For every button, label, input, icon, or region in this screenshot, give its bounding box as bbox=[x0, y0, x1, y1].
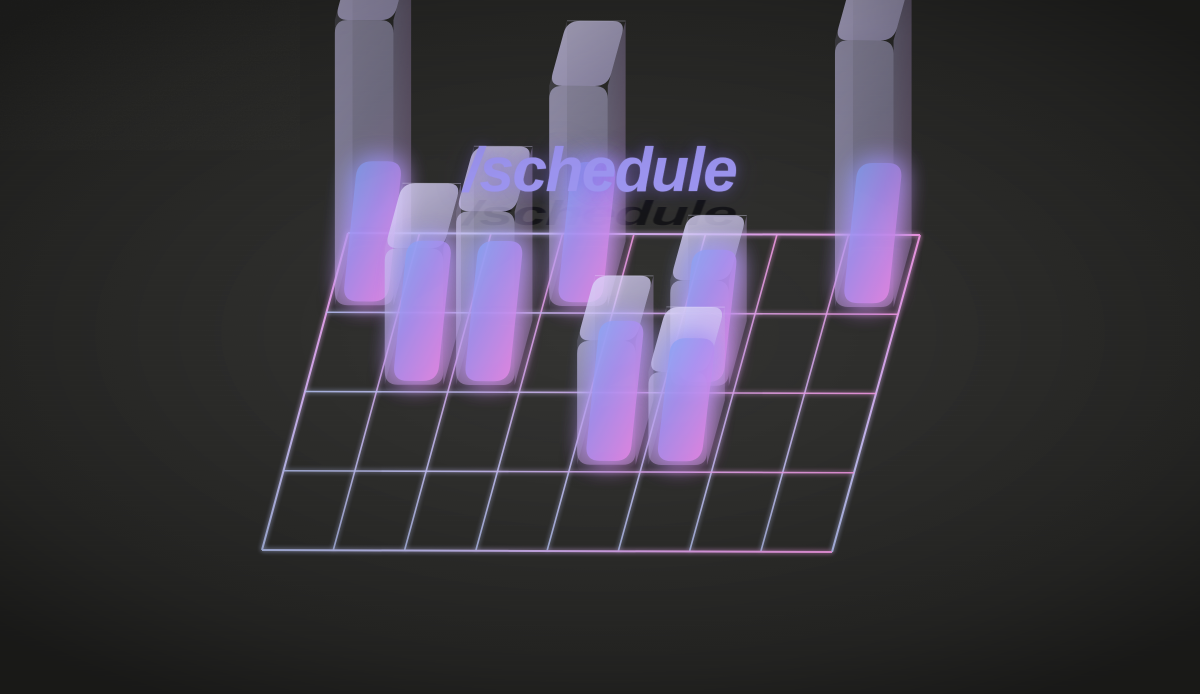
bar-front-face bbox=[456, 211, 515, 385]
bar-front-face bbox=[549, 86, 608, 306]
bar-top-face bbox=[580, 276, 651, 341]
grid-line bbox=[690, 235, 778, 552]
grid-line bbox=[333, 233, 419, 550]
bar-front-face bbox=[835, 40, 894, 307]
bar-side-face bbox=[636, 276, 654, 465]
bar-collection bbox=[335, 0, 912, 465]
grid-line bbox=[284, 471, 855, 473]
bar-front-face bbox=[335, 20, 394, 305]
floor-shadow-layer bbox=[0, 0, 1200, 694]
bar-base-glow bbox=[658, 338, 715, 461]
bar-bar-c1-r1 bbox=[335, 0, 411, 305]
bar-side-face bbox=[729, 215, 747, 385]
bar-side-face bbox=[894, 0, 912, 307]
bar-top-face bbox=[838, 0, 909, 40]
bar-shadow bbox=[834, 247, 905, 314]
bar-shadow bbox=[647, 405, 718, 472]
bar-left-face bbox=[549, 21, 567, 306]
bar-base-glow bbox=[586, 321, 643, 461]
bar-shadow bbox=[333, 245, 404, 312]
bar-top-face bbox=[651, 307, 722, 372]
bar-side-face bbox=[393, 0, 411, 305]
bar-shadow bbox=[548, 246, 619, 313]
bar-top-face bbox=[552, 21, 623, 86]
bar-shadow bbox=[455, 325, 526, 392]
grid-line bbox=[547, 234, 634, 551]
bar-bar-c8-r1 bbox=[835, 0, 912, 307]
wordmark: /schedule bbox=[464, 140, 737, 202]
bar-side-face bbox=[515, 147, 533, 386]
grid-line bbox=[761, 235, 849, 552]
bar-bar-c6-r3 bbox=[648, 307, 724, 465]
grid-line bbox=[832, 235, 920, 552]
bar-bar-c6-r2 bbox=[670, 215, 746, 386]
grid-line bbox=[348, 233, 920, 235]
grid-line bbox=[262, 550, 832, 552]
wordmark-reflection: /schedule bbox=[0, 197, 1200, 259]
grid-line bbox=[327, 312, 899, 314]
bar-side-face bbox=[707, 307, 725, 465]
grid-line bbox=[405, 234, 492, 551]
bar-base-glow bbox=[394, 241, 451, 381]
floor-grid-layer bbox=[0, 0, 1200, 694]
bar-left-face bbox=[335, 0, 353, 305]
bar-shadow bbox=[383, 325, 454, 392]
bar-bar-c2-r2 bbox=[385, 183, 461, 385]
bar-front-face bbox=[670, 280, 729, 386]
bar-chart-scene bbox=[0, 0, 1200, 694]
bar-top-face bbox=[387, 183, 458, 248]
grid-line bbox=[305, 392, 876, 394]
bar-front-face bbox=[385, 248, 444, 385]
bar-side-face bbox=[443, 183, 461, 384]
wordmark-container: /schedule bbox=[0, 140, 1200, 202]
background-noise-texture bbox=[0, 0, 300, 150]
artwork-canvas: /schedule bbox=[0, 0, 1200, 694]
bar-top-face bbox=[673, 215, 744, 280]
floor-grid bbox=[262, 233, 920, 552]
grid-line bbox=[476, 234, 563, 551]
bar-left-face bbox=[456, 146, 474, 385]
bar-base-glow bbox=[680, 250, 737, 382]
bar-left-face bbox=[385, 183, 403, 384]
vignette-overlay bbox=[0, 0, 1200, 694]
bar-top-face bbox=[459, 146, 530, 211]
bar-bar-c3-r2 bbox=[456, 146, 532, 385]
bar-left-face bbox=[577, 276, 595, 465]
bar-bar-c4-r1 bbox=[549, 21, 625, 306]
bars-layer bbox=[0, 0, 1200, 694]
bar-base-glow bbox=[465, 241, 522, 381]
bar-base-glow bbox=[844, 163, 901, 303]
wordmark-reflection-text: /schedule bbox=[463, 197, 737, 231]
bar-left-face bbox=[648, 307, 666, 465]
bar-shadow bbox=[669, 326, 740, 393]
bar-base-glow bbox=[344, 161, 401, 301]
bar-shadow bbox=[576, 405, 647, 472]
grid-line bbox=[262, 233, 348, 550]
bar-base-glow bbox=[559, 162, 616, 302]
bar-front-face bbox=[648, 372, 706, 465]
bar-left-face bbox=[835, 0, 853, 307]
bar-left-face bbox=[670, 215, 688, 385]
bar-side-face bbox=[608, 21, 626, 306]
bar-bar-c5-r3 bbox=[577, 276, 653, 465]
scanline-banding bbox=[0, 0, 1200, 694]
bar-front-face bbox=[577, 341, 635, 465]
grid-line bbox=[618, 234, 705, 551]
bar-top-face bbox=[338, 0, 409, 20]
